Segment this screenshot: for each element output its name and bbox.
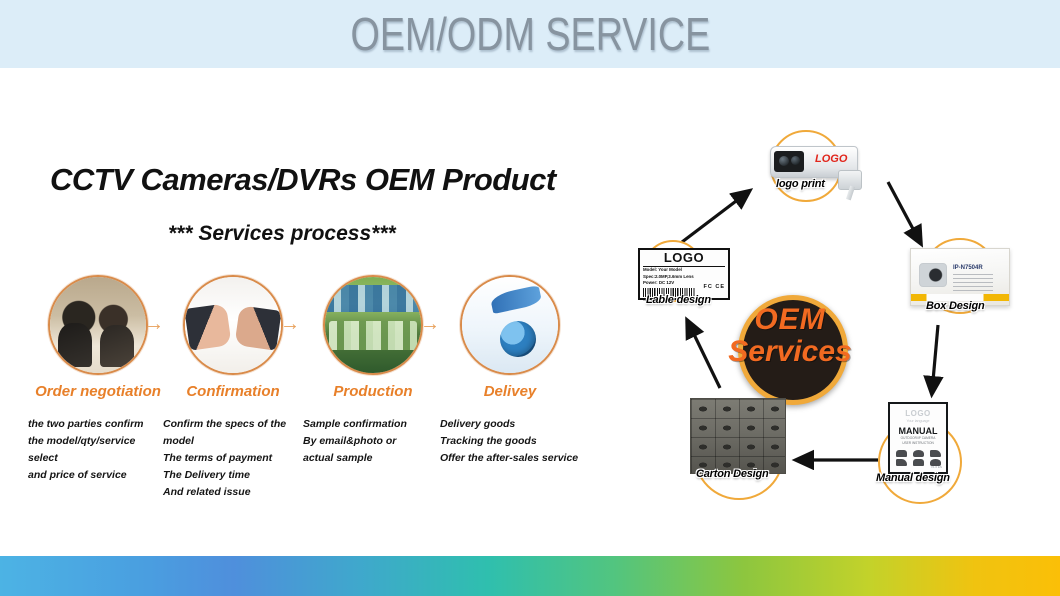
- step-body-line: actual sample: [303, 450, 443, 467]
- step-body-line: The terms of payment: [163, 450, 303, 467]
- box-camera-image-icon: [919, 263, 947, 287]
- step-body-line: Sample confirmation: [303, 416, 443, 433]
- step-label: Delivey: [440, 383, 580, 400]
- carton-stack-photo: [690, 398, 786, 474]
- manual-camera-icon: [896, 450, 907, 457]
- node-caption-logo-print: logo print: [776, 178, 825, 190]
- node-logo-print: LOGO logo print: [762, 128, 872, 206]
- process-step-confirmation: Confirmation Confirm the specs of the mo…: [163, 275, 303, 501]
- step-body-line: Delivery goods: [440, 416, 580, 433]
- left-panel-subtitle: *** Services process***: [168, 222, 396, 246]
- oem-odm-service-page: OEM/ODM SERVICE CCTV Cameras/DVRs OEM Pr…: [0, 0, 1060, 596]
- label-logo-text: LOGO: [643, 251, 725, 267]
- step-body-line: and price of service: [28, 467, 168, 484]
- label-spec-line: Model: Your Model: [643, 267, 725, 274]
- carton-print-marks: [691, 399, 785, 473]
- page-header: OEM/ODM SERVICE: [0, 0, 1060, 68]
- arrow-carton-to-label-icon: [688, 322, 720, 388]
- step-body: Sample confirmation By email&photo or ac…: [303, 416, 443, 467]
- handshake-photo: [183, 275, 283, 375]
- arrow-box-to-manual-icon: [932, 325, 938, 392]
- step-body-line: The Delivery time: [163, 467, 303, 484]
- meeting-photo: [48, 275, 148, 375]
- manual-logo-text: LOGO: [893, 409, 943, 418]
- step-body-line: By email&photo or: [303, 433, 443, 450]
- manual-bracket-icon: [913, 459, 924, 466]
- step-label: Order negotiation: [28, 383, 168, 400]
- step-body-line: And related issue: [163, 484, 303, 501]
- product-box-icon: IP-N7504R: [910, 248, 1010, 306]
- step-arrow-icon: →: [420, 313, 440, 336]
- air-freight-photo: [460, 275, 560, 375]
- page-footer-gradient: [0, 556, 1060, 596]
- services-process-panel: CCTV Cameras/DVRs OEM Product *** Servic…: [28, 150, 598, 500]
- manual-booklet-icon: LOGO Your language MANUAL OUTDOOR/IP CAM…: [888, 402, 948, 474]
- node-caption-box-design: Box Design: [926, 300, 985, 312]
- step-body-line: the two parties confirm: [28, 416, 168, 433]
- page-title: OEM/ODM SERVICE: [350, 7, 710, 61]
- manual-sub-line: USER INSTRUCTION: [893, 441, 943, 446]
- camera-lens-housing-icon: [774, 151, 804, 172]
- manual-bullet-icon: [930, 450, 941, 457]
- box-brand-text: IP-N7504R: [953, 265, 983, 271]
- step-body-line: Tracking the goods: [440, 433, 580, 450]
- arrow-logo-to-box-icon: [888, 182, 920, 242]
- node-caption-manual-design: Manual design: [876, 472, 950, 484]
- step-body: Confirm the specs of the model The terms…: [163, 416, 303, 501]
- process-step-production: Production Sample confirmation By email&…: [303, 275, 443, 467]
- manual-diagram-icons: [893, 450, 943, 466]
- manual-logo-sub-text: Your language: [893, 419, 943, 423]
- node-caption-label-design: Lable design: [646, 294, 711, 306]
- factory-line-photo: [323, 275, 423, 375]
- manual-version-text: V1.0 EN: [931, 465, 942, 469]
- camera-lens-icon: [779, 156, 789, 166]
- node-label-design: LOGO Model: Your Model Spec:2.0MP,3.6mm …: [638, 248, 730, 300]
- left-panel-title: CCTV Cameras/DVRs OEM Product: [50, 162, 556, 198]
- certification-marks-icon: FC CE: [704, 284, 726, 290]
- manual-title-text: MANUAL: [893, 426, 943, 436]
- node-box-design: IP-N7504R Box Design: [910, 248, 1010, 306]
- arrow-label-to-logo-icon: [682, 192, 748, 242]
- step-body-line: Confirm the specs of the model: [163, 416, 303, 450]
- camera-ir-led-icon: [791, 156, 800, 165]
- product-label-card: LOGO Model: Your Model Spec:2.0MP,3.6mm …: [638, 248, 730, 300]
- label-spec-line: Spec:2.0MP,3.6mm Lens: [643, 274, 725, 281]
- step-label: Production: [303, 383, 443, 400]
- step-arrow-icon: →: [144, 313, 164, 336]
- process-step-delivery: Delivey Delivery goods Tracking the good…: [440, 275, 580, 467]
- step-body-line: the model/qty/service select: [28, 433, 168, 467]
- step-body-line: Offer the after-sales service: [440, 450, 580, 467]
- oem-services-badge: [738, 295, 848, 405]
- node-caption-carton-design: Carton Design: [696, 468, 769, 480]
- step-body: Delivery goods Tracking the goods Offer …: [440, 416, 580, 467]
- manual-mount-icon: [896, 459, 907, 466]
- manual-dome-icon: [913, 450, 924, 457]
- step-label: Confirmation: [163, 383, 303, 400]
- box-text-lines: [953, 274, 993, 292]
- node-carton-design: Carton Design: [690, 398, 786, 474]
- oem-cycle-diagram: OEM Services LOGO logo print LOGO Model:…: [620, 120, 1040, 500]
- step-arrow-icon: →: [280, 313, 300, 336]
- camera-logo-text: LOGO: [815, 153, 847, 165]
- step-body: the two parties confirm the model/qty/se…: [28, 416, 168, 484]
- process-step-order-negotiation: Order negotiation the two parties confir…: [28, 275, 168, 484]
- node-manual-design: LOGO Your language MANUAL OUTDOOR/IP CAM…: [888, 402, 948, 474]
